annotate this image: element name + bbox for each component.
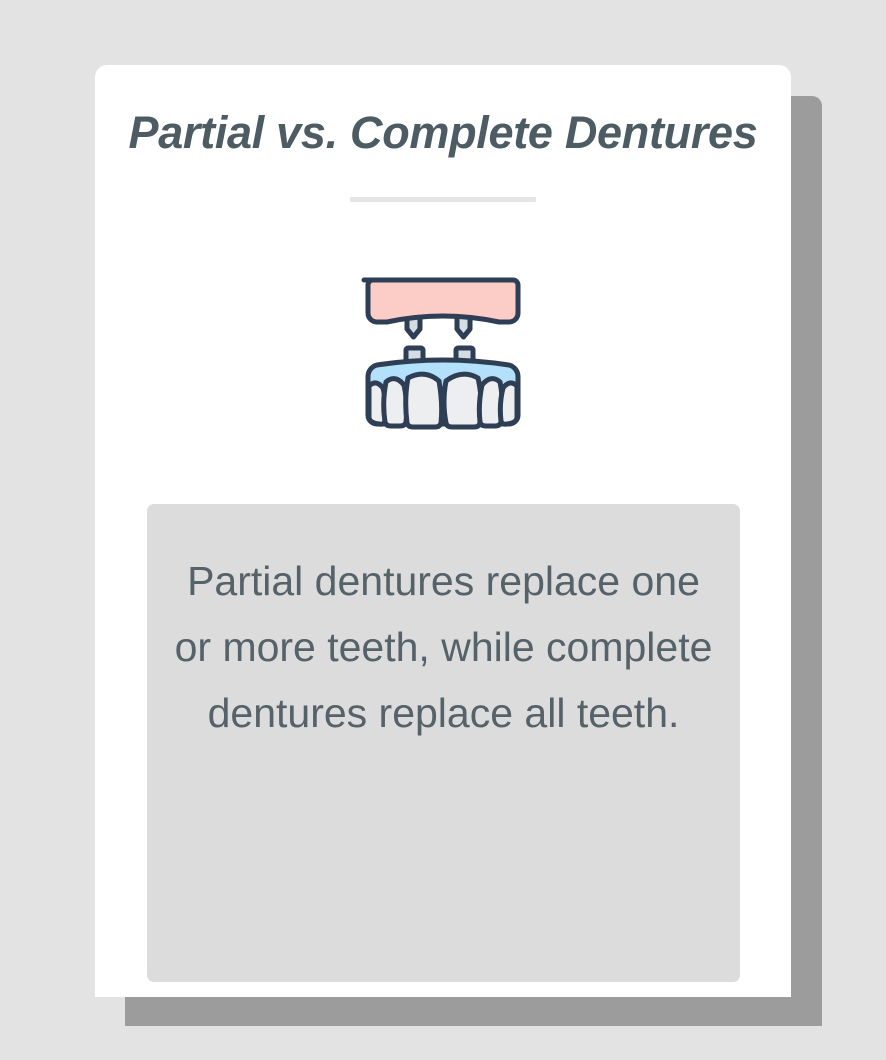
dentures-illustration <box>353 269 533 439</box>
description-text: Partial dentures replace one or more tee… <box>173 548 714 746</box>
upper-plate <box>364 280 518 322</box>
title-divider <box>350 197 536 202</box>
content-card: Partial vs. Complete Dentures <box>95 65 791 997</box>
slide-canvas: Partial vs. Complete Dentures <box>0 0 886 1060</box>
page-title: Partial vs. Complete Dentures <box>95 105 791 161</box>
description-panel: Partial dentures replace one or more tee… <box>147 504 740 982</box>
